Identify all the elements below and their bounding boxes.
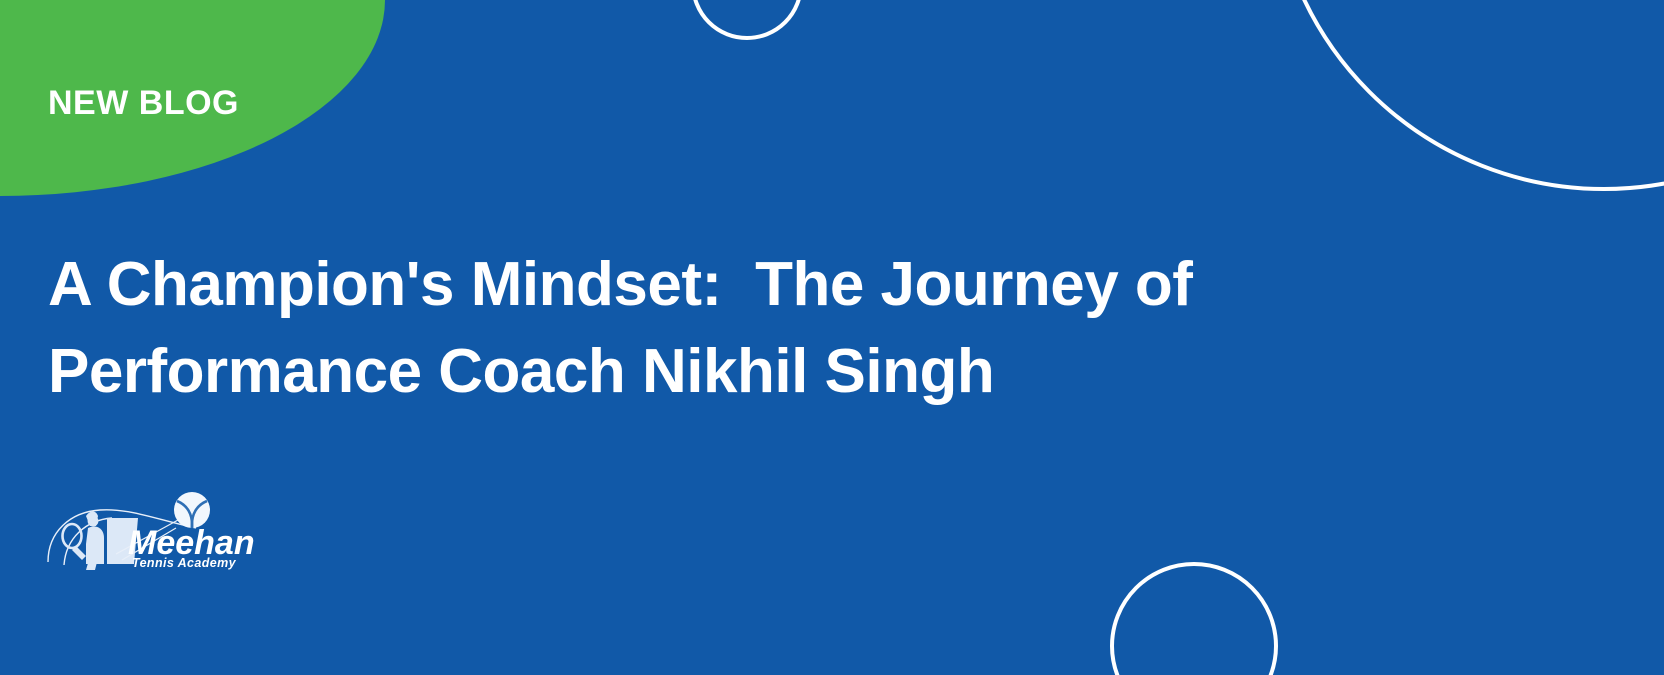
- tennis-ball-icon: [174, 492, 210, 528]
- eyebrow-label: NEW BLOG: [48, 86, 239, 120]
- page-title: A Champion's Mindset: The Journey of Per…: [48, 242, 1298, 416]
- circle-outline-bottom: [1112, 564, 1276, 675]
- blog-promo-banner: NEW BLOG A Champion's Mindset: The Journ…: [0, 0, 1664, 675]
- circle-outline-top: [693, 0, 801, 38]
- logo-tagline-text: Tennis Academy: [132, 556, 237, 570]
- eyebrow-badge: NEW BLOG: [0, 0, 385, 196]
- logo[interactable]: Meehan Tennis Academy: [46, 486, 286, 570]
- circle-outline-top-right: [1272, 0, 1664, 189]
